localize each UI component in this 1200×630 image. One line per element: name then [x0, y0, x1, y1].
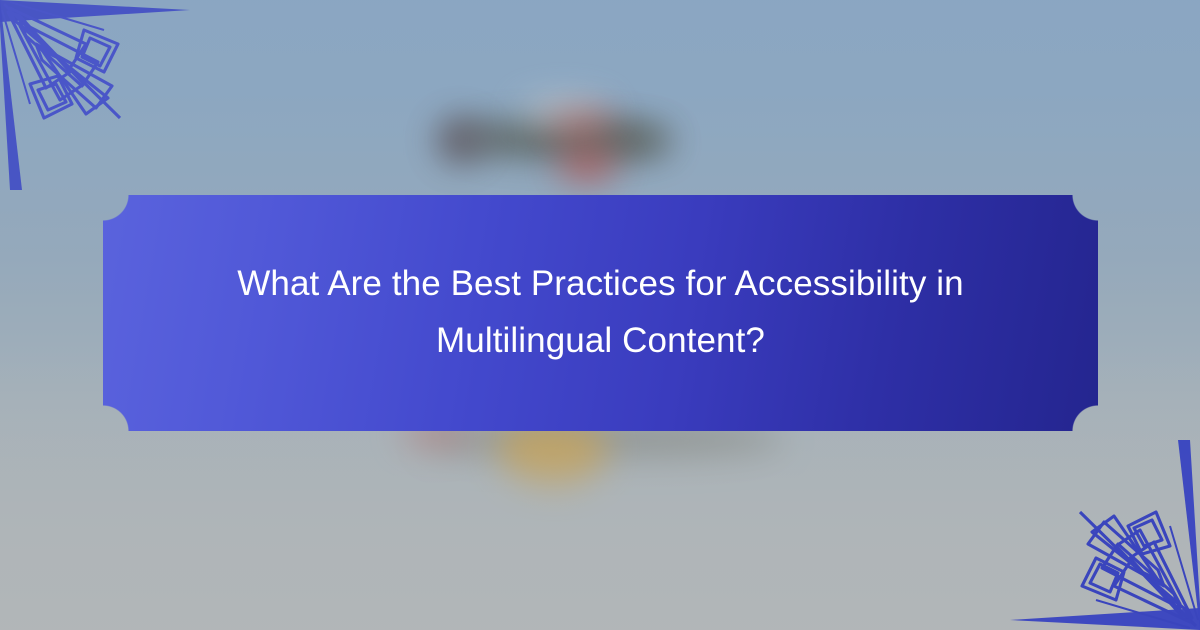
share-card: What Are the Best Practices for Accessib… [0, 0, 1200, 630]
page-title: What Are the Best Practices for Accessib… [176, 256, 1026, 369]
title-banner: What Are the Best Practices for Accessib… [103, 195, 1098, 431]
